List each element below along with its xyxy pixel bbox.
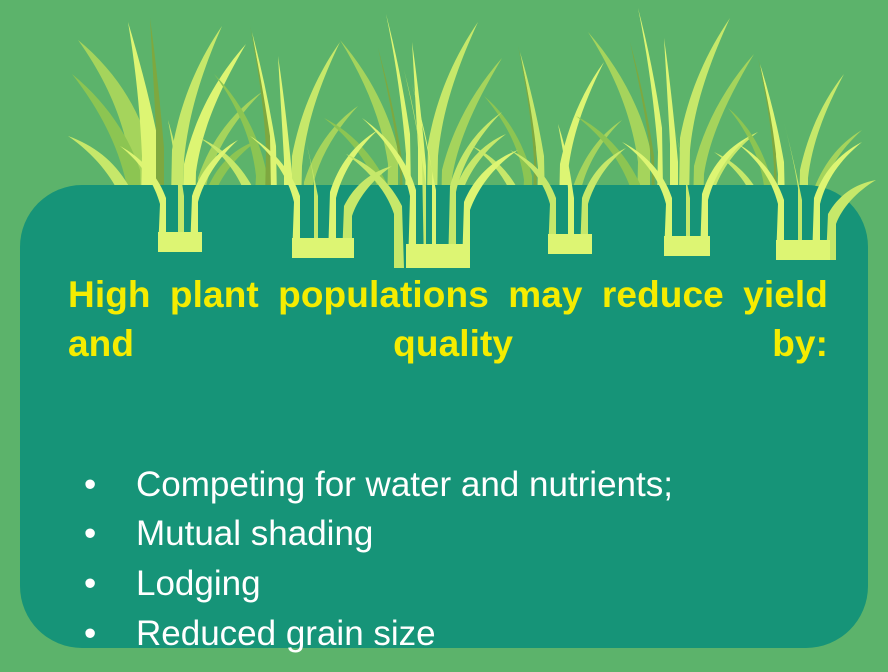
bullet-marker-icon: • <box>84 559 96 609</box>
page-title: High plant populations may reduce yield … <box>68 270 828 418</box>
list-item: • Reduced grain size <box>68 609 820 659</box>
list-item-label: Mutual shading <box>136 514 373 553</box>
list-item: • Competing for water and nutrients; <box>68 460 820 510</box>
bullet-marker-icon: • <box>84 509 96 559</box>
card-text-wrapper: High plant populations may reduce yield … <box>20 185 868 648</box>
list-item-label: Lodging <box>136 564 261 603</box>
bullet-marker-icon: • <box>84 609 96 659</box>
list-item: • Mutual shading <box>68 509 820 559</box>
list-item: • Lodging <box>68 559 820 609</box>
list-item-label: Competing for water and nutrients; <box>136 465 673 504</box>
bullet-list: • Competing for water and nutrients; • M… <box>68 460 820 659</box>
bullet-marker-icon: • <box>84 460 96 510</box>
list-item-label: Reduced grain size <box>136 614 436 653</box>
slide: High plant populations may reduce yield … <box>0 0 888 672</box>
